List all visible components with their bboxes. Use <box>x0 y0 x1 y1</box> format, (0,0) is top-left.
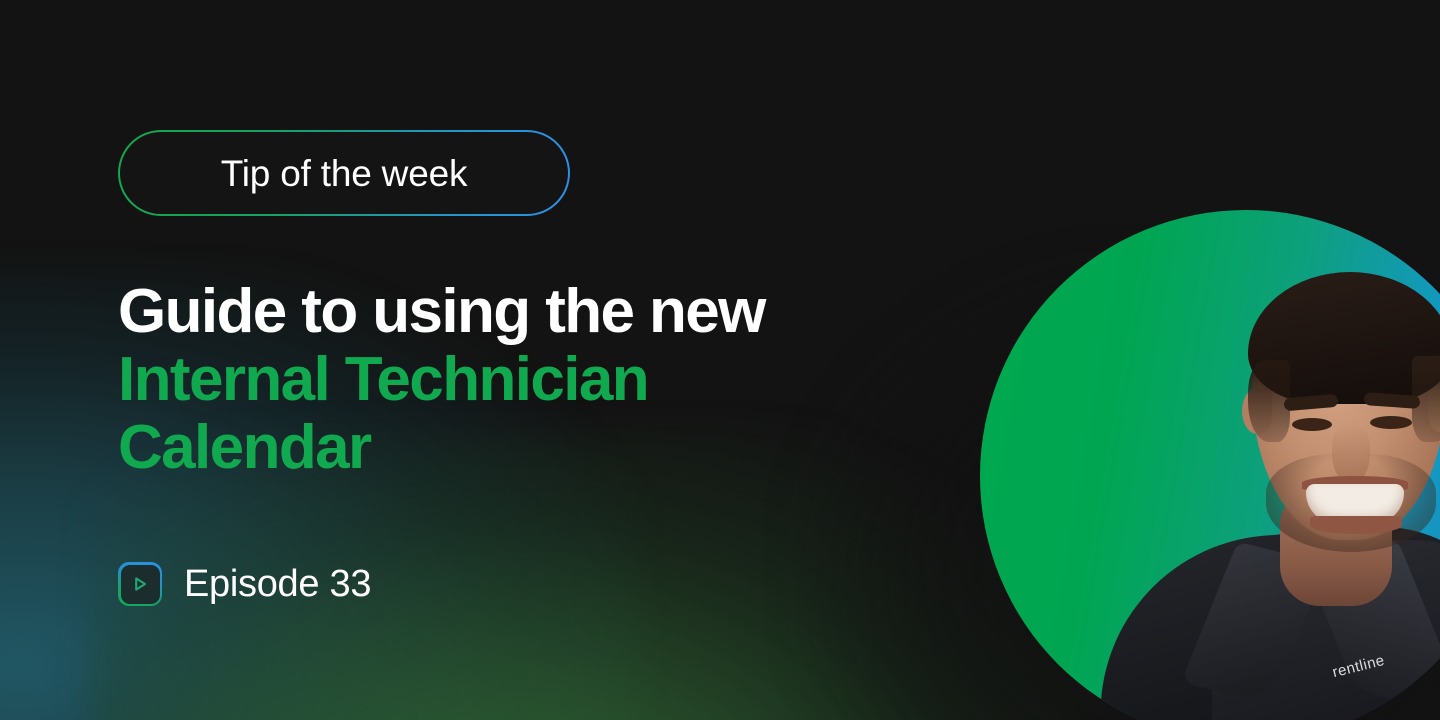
episode-label: Episode 33 <box>184 565 371 603</box>
badge-inner: Tip of the week <box>120 132 568 214</box>
play-square-icon[interactable] <box>118 562 162 606</box>
badge-label: Tip of the week <box>221 155 468 192</box>
episode-row: Episode 33 <box>118 562 371 606</box>
headline-line-3: Calendar <box>118 414 878 482</box>
person-photo: rentline <box>980 210 1440 720</box>
headline-line-1: Guide to using the new <box>118 278 878 346</box>
content-column: Tip of the week Guide to using the new I… <box>118 0 878 720</box>
portrait: rentline <box>980 210 1440 720</box>
tip-of-the-week-badge: Tip of the week <box>118 130 570 216</box>
page-title: Guide to using the new Internal Technici… <box>118 278 878 483</box>
play-icon-inner <box>121 565 160 604</box>
headline-line-2: Internal Technician <box>118 346 878 414</box>
